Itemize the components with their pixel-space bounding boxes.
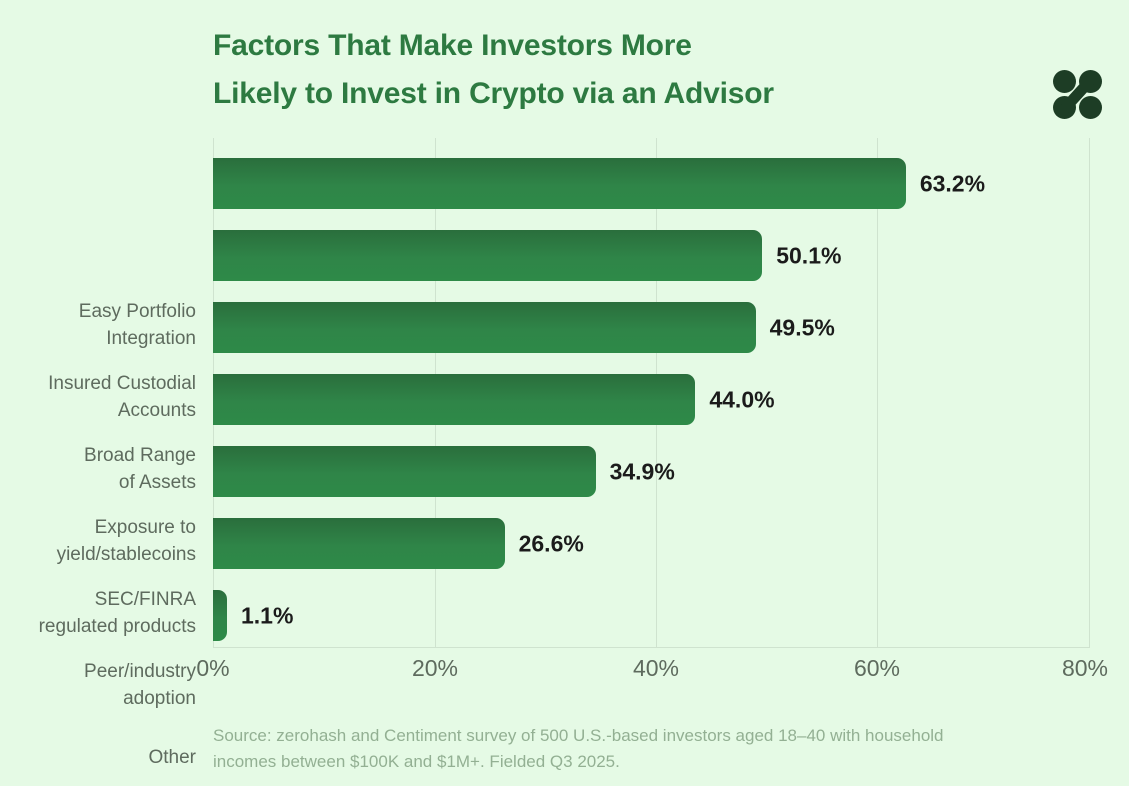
category-label: Easy Portfolio Integration: [6, 298, 196, 352]
bar-other[interactable]: [213, 590, 227, 641]
bar-row: 34.9%: [213, 446, 1090, 497]
category-label: Broad Range of Assets: [6, 442, 196, 496]
category-label: Peer/industry adoption: [6, 658, 196, 712]
bar-sec-finra-regulated-products[interactable]: [213, 446, 596, 497]
bar-exposure-to-yield-stablecoins[interactable]: [213, 374, 695, 425]
source-note: Source: zerohash and Centiment survey of…: [213, 723, 1098, 775]
bar-peer-industry-adoption[interactable]: [213, 518, 505, 569]
bar-row: 63.2%: [213, 158, 1090, 209]
bar-value-label: 34.9%: [610, 458, 675, 485]
x-tick-label: 0%: [196, 655, 229, 682]
plot-area: 63.2% 50.1% 49.5% 44.0% 34.9% 26.6% 1.1%: [213, 138, 1090, 648]
bar-value-label: 44.0%: [709, 386, 774, 413]
x-tick-label: 80%: [1062, 655, 1108, 682]
bar-value-label: 50.1%: [776, 242, 841, 269]
category-label: Other: [6, 744, 196, 771]
bar-easy-portfolio-integration[interactable]: [213, 158, 906, 209]
x-tick-label: 40%: [633, 655, 679, 682]
bar-row: 1.1%: [213, 590, 1090, 641]
category-label: Exposure to yield/stablecoins: [6, 514, 196, 568]
bar-value-label: 63.2%: [920, 170, 985, 197]
bar-value-label: 1.1%: [241, 602, 293, 629]
category-label: SEC/FINRA regulated products: [6, 586, 196, 640]
zerohash-logo: [1050, 67, 1105, 122]
bar-value-label: 49.5%: [770, 314, 835, 341]
category-label: Insured Custodial Accounts: [6, 370, 196, 424]
x-tick-label: 60%: [854, 655, 900, 682]
bar-insured-custodial-accounts[interactable]: [213, 230, 762, 281]
x-axis-line: [213, 647, 1090, 648]
bar-value-label: 26.6%: [519, 530, 584, 557]
x-tick-label: 20%: [412, 655, 458, 682]
y-axis-labels: Easy Portfolio Integration Insured Custo…: [0, 138, 196, 648]
bar-broad-range-of-assets[interactable]: [213, 302, 756, 353]
bar-row: 50.1%: [213, 230, 1090, 281]
bar-row: 44.0%: [213, 374, 1090, 425]
x-axis-labels: 0% 20% 40% 60% 80%: [213, 655, 1090, 695]
bar-row: 26.6%: [213, 518, 1090, 569]
page-title: Factors That Make Investors More Likely …: [213, 22, 913, 118]
zerohash-logo-icon: [1050, 67, 1105, 122]
bar-row: 49.5%: [213, 302, 1090, 353]
